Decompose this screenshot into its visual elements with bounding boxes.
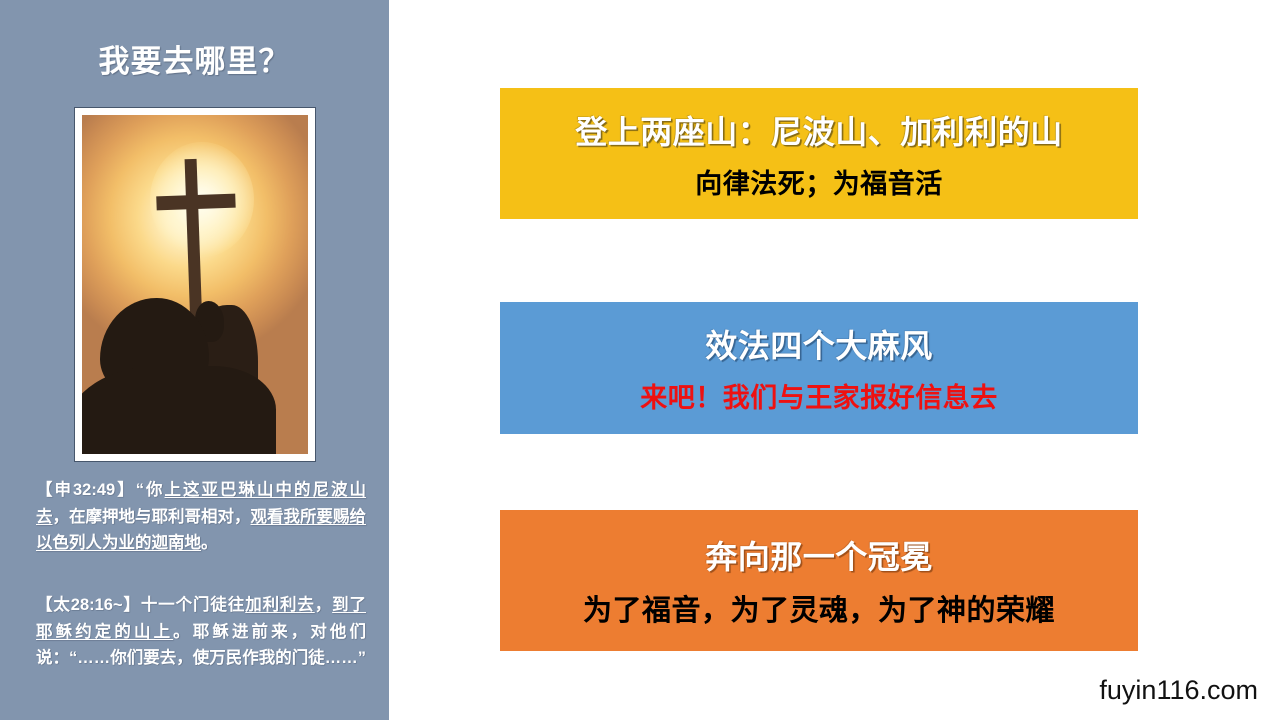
slide-canvas: 我要去哪里？ 【申32:49】“你上这亚巴琳山中的尼波山去，在摩押地与耶利哥相对…	[0, 0, 1280, 720]
point-heading: 登上两座山：尼波山、加利利的山	[575, 107, 1063, 153]
point-heading: 效法四个大麻风	[705, 321, 933, 367]
point-box-lepers[interactable]: 效法四个大麻风 来吧！我们与王家报好信息去	[500, 302, 1138, 434]
site-watermark: fuyin116.com	[1099, 675, 1258, 706]
point-subtitle: 为了福音，为了灵魂，为了神的荣耀	[583, 587, 1055, 629]
scripture-text: 。	[201, 534, 218, 552]
scripture-text: ，在摩押地与耶利哥相对，	[53, 508, 251, 526]
scripture-quote-matthew: 【太28:16~】十一个门徒往加利利去，到了耶稣约定的山上。耶稣进前来，对他们说…	[36, 592, 366, 672]
photo-frame	[74, 107, 316, 462]
sidebar-panel: 我要去哪里？ 【申32:49】“你上这亚巴琳山中的尼波山去，在摩押地与耶利哥相对…	[0, 0, 389, 720]
scripture-reference: 【申32:49】	[36, 481, 136, 499]
scripture-text: “你	[136, 481, 165, 499]
scripture-text: ，	[315, 596, 332, 614]
page-title: 我要去哪里？	[0, 36, 389, 81]
point-heading: 奔向那一个冠冕	[705, 532, 933, 578]
point-box-mountains[interactable]: 登上两座山：尼波山、加利利的山 向律法死；为福音活	[500, 88, 1138, 219]
point-box-crown[interactable]: 奔向那一个冠冕 为了福音，为了灵魂，为了神的荣耀	[500, 510, 1138, 651]
cross-silhouette-sunset-photo	[82, 115, 308, 454]
point-subtitle: 向律法死；为福音活	[695, 162, 943, 201]
scripture-reference: 【太28:16~】	[36, 596, 141, 614]
person-body-silhouette	[82, 366, 276, 454]
scripture-highlight: 加利利去	[245, 596, 315, 614]
scripture-text: 十一个门徒往	[141, 596, 245, 614]
point-subtitle: 来吧！我们与王家报好信息去	[640, 376, 998, 415]
scripture-quote-deuteronomy: 【申32:49】“你上这亚巴琳山中的尼波山去，在摩押地与耶利哥相对，观看我所要赐…	[36, 477, 366, 557]
cross-icon-crossbar	[156, 193, 236, 209]
